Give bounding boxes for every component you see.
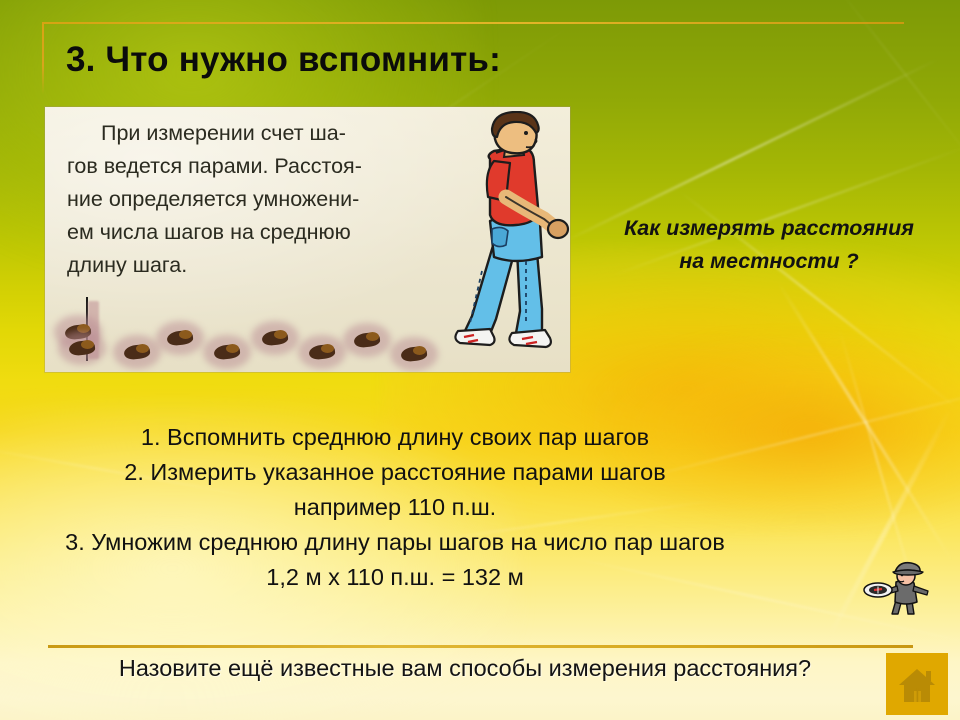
home-button[interactable] <box>886 653 948 715</box>
page-title: 3. Что нужно вспомнить: <box>66 40 501 80</box>
step-calculation: 1,2 м х 110 п.ш. = 132 м <box>0 560 790 595</box>
steps-list: 1. Вспомнить среднюю длину своих пар шаг… <box>0 420 790 595</box>
textbook-paragraph-line: При измерении счет ша- <box>101 121 346 145</box>
step-example: например 110 п.ш. <box>0 490 790 525</box>
step-item: 3. Умножим среднюю длину пары шагов на ч… <box>0 525 790 560</box>
presentation-slide: 3. Что нужно вспомнить: При измерении сч… <box>0 0 960 720</box>
frame-top-line <box>42 22 904 24</box>
textbook-paragraph-line: длину шага. <box>67 253 187 277</box>
frame-left-line <box>42 22 44 94</box>
side-question-line-1: Как измерять расстояния <box>624 216 914 240</box>
side-question-line-2: на местности ? <box>583 245 955 278</box>
textbook-paragraph-line: гов ведется парами. Расстоя- <box>67 154 362 178</box>
textbook-paragraph-line: ние определяется умножени- <box>67 187 359 211</box>
textbook-paragraph: При измерении счет ша- гов ведется парам… <box>67 117 457 282</box>
bottom-question: Назовите ещё известные вам способы измер… <box>0 655 930 682</box>
footprint-trail <box>45 292 570 372</box>
soldier-with-compass-icon <box>862 556 946 618</box>
textbook-excerpt-card: При измерении счет ша- гов ведется парам… <box>45 107 570 372</box>
step-item: 2. Измерить указанное расстояние парами … <box>0 455 790 490</box>
textbook-paragraph-line: ем числа шагов на среднюю <box>67 220 351 244</box>
home-icon <box>895 664 939 704</box>
side-question: Как измерять расстояния на местности ? <box>583 212 955 278</box>
footer-divider <box>48 645 913 648</box>
step-item: 1. Вспомнить среднюю длину своих пар шаг… <box>0 420 790 455</box>
